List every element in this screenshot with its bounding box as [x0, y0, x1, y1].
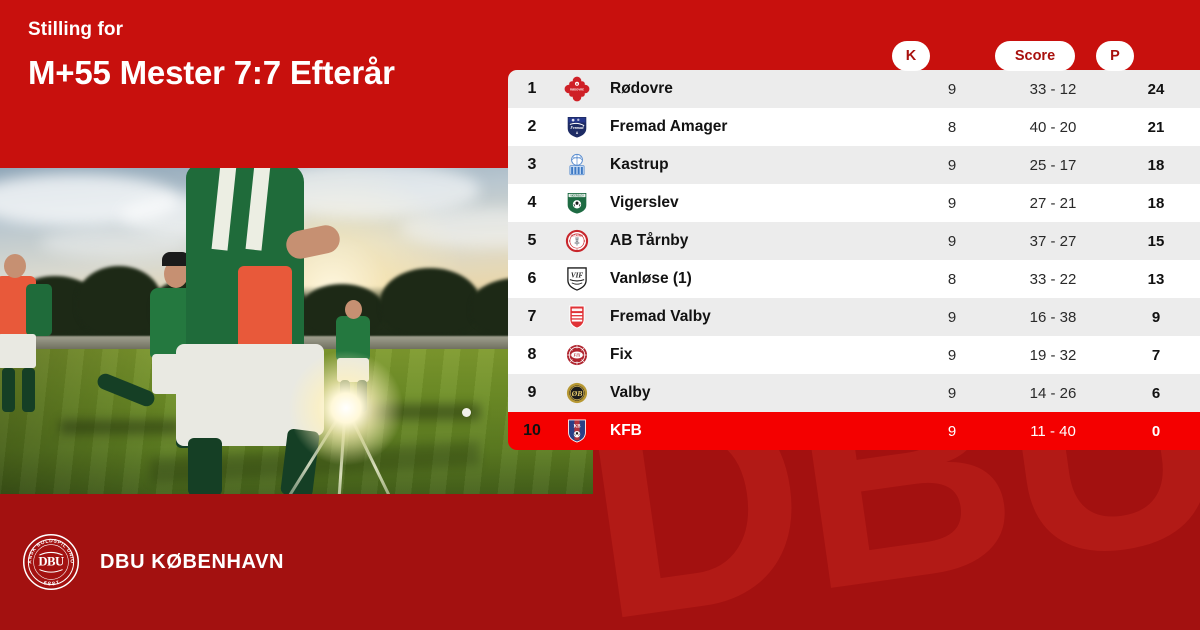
row-goal-score: 14 - 26	[994, 385, 1112, 402]
table-row[interactable]: 5AB TÅRNBYAB Tårnby937 - 2715	[508, 222, 1200, 260]
standings-graphic: DBU Stilling for M+55 Mester 7:7 Efterår	[0, 0, 1200, 630]
player-silhouette	[2, 368, 15, 412]
row-rank: 3	[508, 156, 556, 174]
table-row[interactable]: 8FIXFix919 - 327	[508, 336, 1200, 374]
header-text-group: Stilling for M+55 Mester 7:7 Efterår	[28, 18, 395, 93]
footer-org-name: DBU KØBENHAVN	[100, 551, 284, 574]
row-goal-score: 37 - 27	[994, 233, 1112, 250]
row-matches-played: 9	[910, 347, 994, 364]
row-rank: 2	[508, 118, 556, 136]
row-rank: 8	[508, 346, 556, 364]
row-goal-score: 19 - 32	[994, 347, 1112, 364]
table-row[interactable]: 7Fremad Valby916 - 389	[508, 298, 1200, 336]
row-points: 7	[1112, 347, 1200, 364]
vanloese-crest: VIF	[556, 260, 598, 298]
sun-flare	[288, 350, 404, 466]
row-matches-played: 9	[910, 81, 994, 98]
kastrup-crest	[556, 146, 598, 184]
column-header-score: Score	[995, 41, 1075, 71]
standings-table: 1RRØDOVRERødovre933 - 12242FremadAFremad…	[508, 70, 1200, 450]
row-goal-score: 25 - 17	[994, 157, 1112, 174]
svg-text:Fremad: Fremad	[570, 125, 584, 130]
row-points: 6	[1112, 385, 1200, 402]
player-silhouette	[0, 334, 36, 368]
valby-crest: ØB	[556, 374, 598, 412]
vigerslev-crest: VIGERSLEV	[556, 184, 598, 222]
svg-text:KB: KB	[573, 424, 581, 429]
row-goal-score: 33 - 12	[994, 81, 1112, 98]
row-points: 0	[1112, 423, 1200, 440]
player-silhouette	[345, 300, 362, 319]
row-team-name[interactable]: Kastrup	[598, 156, 910, 174]
row-team-name[interactable]: Vanløse (1)	[598, 270, 910, 288]
row-matches-played: 8	[910, 271, 994, 288]
row-team-name[interactable]: KFB	[598, 422, 910, 440]
player-silhouette	[4, 254, 26, 278]
player-foreground	[188, 438, 222, 494]
row-team-name[interactable]: Valby	[598, 384, 910, 402]
table-row[interactable]: 10KBKFB911 - 400	[508, 412, 1200, 450]
row-points: 9	[1112, 309, 1200, 326]
dbu-logo: DANSK BOLDSPIL UNION 1889 DBU	[22, 533, 80, 591]
row-matches-played: 9	[910, 195, 994, 212]
grass-shadow	[60, 420, 180, 434]
row-rank: 1	[508, 80, 556, 98]
table-row[interactable]: 3Kastrup925 - 1718	[508, 146, 1200, 184]
row-team-name[interactable]: Fremad Valby	[598, 308, 910, 326]
fremad-amager-crest: FremadA	[556, 108, 598, 146]
table-row[interactable]: 6VIFVanløse (1)833 - 2213	[508, 260, 1200, 298]
row-goal-score: 40 - 20	[994, 119, 1112, 136]
svg-text:VIGERSLEV: VIGERSLEV	[570, 196, 584, 198]
row-matches-played: 9	[910, 423, 994, 440]
page-title: M+55 Mester 7:7 Efterår	[28, 53, 395, 93]
footer: DANSK BOLDSPIL UNION 1889 DBU DBU KØBENH…	[0, 494, 1200, 630]
row-rank: 7	[508, 308, 556, 326]
table-row[interactable]: 9ØBValby914 - 266	[508, 374, 1200, 412]
header-eyebrow: Stilling for	[28, 18, 395, 42]
column-header-k: K	[892, 41, 930, 71]
row-points: 18	[1112, 195, 1200, 212]
ab-taarnby-crest: AB TÅRNBY	[556, 222, 598, 260]
row-rank: 4	[508, 194, 556, 212]
player-silhouette	[22, 368, 35, 412]
row-points: 21	[1112, 119, 1200, 136]
row-team-name[interactable]: Fix	[598, 346, 910, 364]
row-matches-played: 9	[910, 157, 994, 174]
row-matches-played: 9	[910, 385, 994, 402]
row-team-name[interactable]: Vigerslev	[598, 194, 910, 212]
row-matches-played: 8	[910, 119, 994, 136]
table-row[interactable]: 4VIGERSLEVVigerslev927 - 2118	[508, 184, 1200, 222]
football-match-photo	[0, 168, 593, 494]
row-team-name[interactable]: Fremad Amager	[598, 118, 910, 136]
svg-text:ØB: ØB	[571, 389, 583, 398]
row-team-name[interactable]: AB Tårnby	[598, 232, 910, 250]
table-row[interactable]: 2FremadAFremad Amager840 - 2021	[508, 108, 1200, 146]
table-column-headers: K Score P	[508, 41, 1200, 71]
row-team-name[interactable]: Rødovre	[598, 80, 910, 98]
row-goal-score: 16 - 38	[994, 309, 1112, 326]
kfb-crest: KB	[556, 412, 598, 450]
row-goal-score: 27 - 21	[994, 195, 1112, 212]
row-matches-played: 9	[910, 233, 994, 250]
fremad-valby-crest	[556, 298, 598, 336]
svg-text:RØDOVRE: RØDOVRE	[570, 88, 584, 92]
row-points: 15	[1112, 233, 1200, 250]
rodovre-crest: RRØDOVRE	[556, 70, 598, 108]
row-points: 13	[1112, 271, 1200, 288]
svg-text:AB TÅRNBY: AB TÅRNBY	[571, 234, 585, 237]
table-row[interactable]: 1RRØDOVRERødovre933 - 1224	[508, 70, 1200, 108]
football-distant	[462, 408, 471, 417]
row-rank: 9	[508, 384, 556, 402]
row-rank: 6	[508, 270, 556, 288]
tree	[380, 268, 480, 336]
row-rank: 10	[508, 422, 556, 440]
row-matches-played: 9	[910, 309, 994, 326]
row-points: 18	[1112, 157, 1200, 174]
row-goal-score: 33 - 22	[994, 271, 1112, 288]
fix-crest: FIX	[556, 336, 598, 374]
row-rank: 5	[508, 232, 556, 250]
row-points: 24	[1112, 81, 1200, 98]
column-header-p: P	[1096, 41, 1134, 71]
player-silhouette	[26, 284, 52, 336]
svg-text:R: R	[576, 82, 578, 86]
row-goal-score: 11 - 40	[994, 423, 1112, 440]
svg-text:FIX: FIX	[574, 353, 581, 357]
svg-text:DBU: DBU	[38, 554, 64, 568]
svg-text:VIF: VIF	[571, 271, 584, 279]
